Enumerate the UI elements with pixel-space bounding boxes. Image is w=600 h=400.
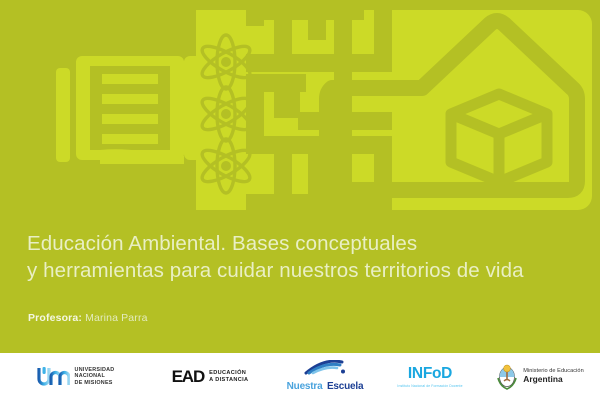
- ne-word-nuestra: Nuestra: [287, 381, 323, 392]
- logo-ministerio-educacion: Ministerio de Educación Argentina: [480, 353, 600, 400]
- ead-wordmark: EAD: [172, 367, 205, 387]
- course-title: Educación Ambiental. Bases conceptuales …: [27, 230, 583, 284]
- hero-icon-artwork: [8, 10, 592, 210]
- logo-unam: UNIVERSIDAD NACIONAL DE MISIONES: [0, 353, 150, 400]
- mineduc-line-2: Argentina: [523, 375, 584, 385]
- course-cover-card: Educación Ambiental. Bases conceptuales …: [0, 0, 600, 400]
- cube-icon: [451, 94, 547, 182]
- nuestra-escuela-wordmark: Nuestra Escuela: [287, 376, 364, 394]
- hero-graphic-band: [0, 0, 600, 216]
- title-block: Educación Ambiental. Bases conceptuales …: [0, 218, 600, 353]
- unam-wordmark: UNIVERSIDAD NACIONAL DE MISIONES: [75, 367, 115, 386]
- instructor-byline: Profesora: Marina Parra: [28, 312, 148, 324]
- house-with-cube-icon: [327, 21, 577, 190]
- mineduc-wordmark: Ministerio de Educación Argentina: [523, 368, 584, 384]
- instructor-name: Marina Parra: [85, 312, 148, 324]
- logo-infod: INFoD Instituto Nacional de Formación Do…: [380, 353, 480, 400]
- argentina-coat-of-arms-icon: [496, 364, 518, 390]
- infod-wordmark: INFoD: [408, 365, 452, 383]
- ead-tagline: EDUCACIÓN A DISTANCIA: [209, 370, 248, 383]
- logo-nuestra-escuela: Nuestra Escuela: [270, 353, 380, 400]
- instructor-label: Profesora:: [28, 312, 82, 324]
- unam-monogram-icon: [36, 366, 70, 387]
- partner-logo-bar: UNIVERSIDAD NACIONAL DE MISIONES EAD EDU…: [0, 353, 600, 400]
- course-title-line-2: y herramientas para cuidar nuestros terr…: [27, 257, 583, 284]
- swoosh-icon: [304, 360, 346, 375]
- logo-ead: EAD EDUCACIÓN A DISTANCIA: [150, 353, 270, 400]
- course-title-line-1: Educación Ambiental. Bases conceptuales: [27, 230, 583, 257]
- ne-word-escuela: Escuela: [327, 381, 363, 392]
- infod-subtitle: Instituto Nacional de Formación Docente: [397, 384, 462, 388]
- ead-line-2: A DISTANCIA: [209, 377, 248, 383]
- hero-graphic-inner: [8, 10, 592, 210]
- unam-line-3: DE MISIONES: [75, 380, 115, 386]
